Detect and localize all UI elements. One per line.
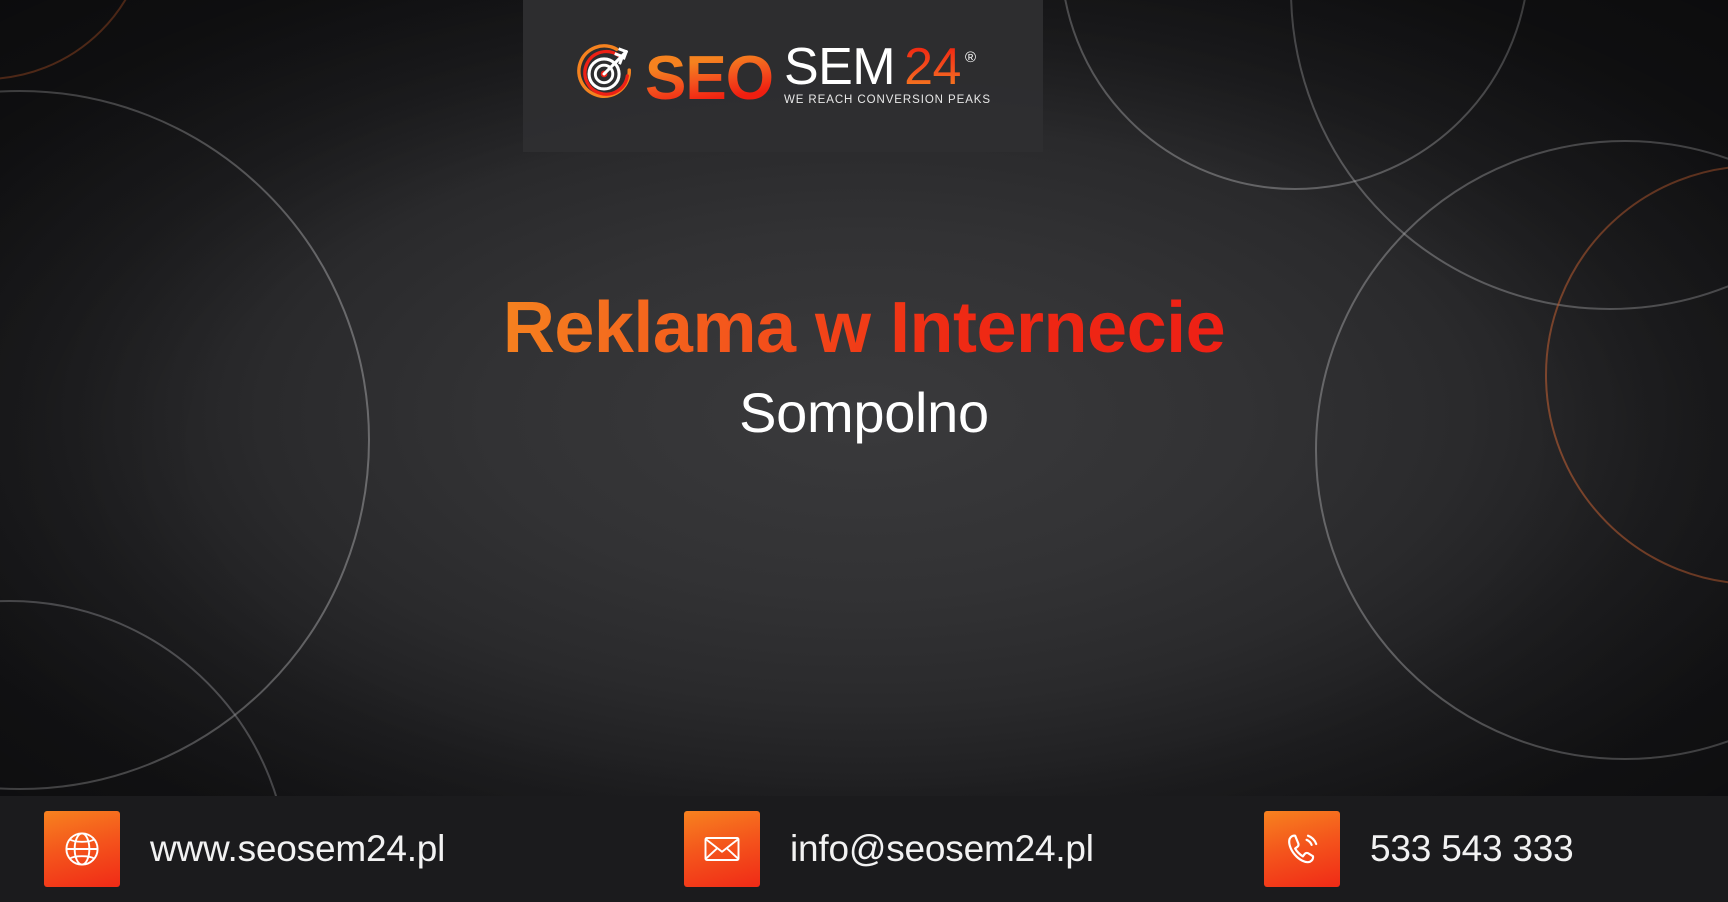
slide-canvas: SEO SEM 24 ® WE REACH CONVERSION PEAKS R…	[0, 0, 1728, 902]
globe-icon	[44, 811, 120, 887]
decor-ring-grey-top-right	[1060, 0, 1530, 190]
logo-sem-text: SEM	[784, 43, 895, 92]
page-subtitle: Sompolno	[739, 382, 989, 444]
target-arrow-icon	[575, 41, 637, 103]
decor-ring-grey-right-big	[1290, 0, 1728, 310]
phone-label: 533 543 333	[1370, 828, 1574, 870]
logo-right-block: SEM 24 ® WE REACH CONVERSION PEAKS	[784, 43, 991, 106]
logo-sem-row: SEM 24 ®	[784, 43, 991, 92]
decor-ring-grey-right-mid	[1315, 140, 1728, 760]
logo-wordmark: SEO SEM 24 ® WE REACH CONVERSION PEAKS	[645, 43, 991, 107]
website-label: www.seosem24.pl	[150, 828, 445, 870]
page-title: Reklama w Internecie	[503, 290, 1225, 368]
contact-bar-inner: www.seosem24.pl info@seosem24.pl	[0, 811, 1728, 887]
brand-logo: SEO SEM 24 ® WE REACH CONVERSION PEAKS	[575, 41, 991, 107]
envelope-icon	[684, 811, 760, 887]
logo-plate: SEO SEM 24 ® WE REACH CONVERSION PEAKS	[523, 0, 1043, 152]
contact-bar: www.seosem24.pl info@seosem24.pl	[0, 796, 1728, 902]
contact-email[interactable]: info@seosem24.pl	[684, 811, 1264, 887]
decor-ring-orange-left	[0, 0, 150, 80]
logo-seo-text: SEO	[645, 50, 773, 107]
logo-tagline: WE REACH CONVERSION PEAKS	[784, 94, 991, 106]
phone-icon	[1264, 811, 1340, 887]
contact-phone[interactable]: 533 543 333	[1264, 811, 1684, 887]
hero-block: Reklama w Internecie Sompolno	[0, 290, 1728, 443]
email-label: info@seosem24.pl	[790, 828, 1094, 870]
registered-mark: ®	[965, 49, 976, 66]
logo-number-text: 24	[904, 43, 961, 92]
contact-website[interactable]: www.seosem24.pl	[44, 811, 684, 887]
